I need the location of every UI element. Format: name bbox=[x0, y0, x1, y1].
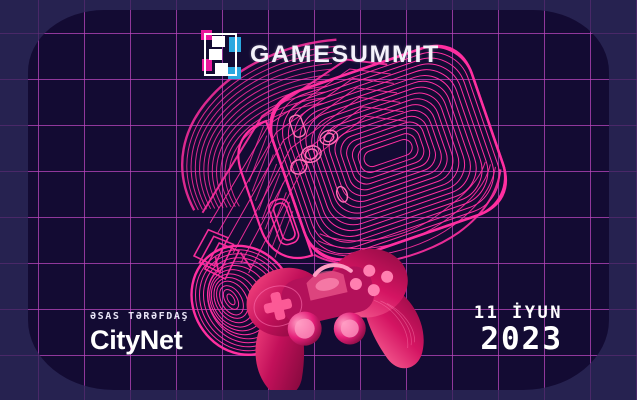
partner-block: ƏSAS TƏRƏFDAŞ CityNet bbox=[90, 311, 189, 354]
event-date: 11 İYUN 2023 bbox=[474, 304, 563, 356]
event-year: 2023 bbox=[474, 323, 563, 356]
gamesummit-pixel-s-logo-icon bbox=[204, 33, 237, 76]
partner-name: CityNet bbox=[90, 327, 189, 354]
brand-lockup: GAMESUMMIT bbox=[28, 33, 609, 76]
crt-screen: GAMESUMMIT ƏSAS TƏRƏFDAŞ CityNet 11 İYUN… bbox=[28, 10, 609, 390]
partner-kicker: ƏSAS TƏRƏFDAŞ bbox=[90, 311, 189, 322]
event-poster: GAMESUMMIT ƏSAS TƏRƏFDAŞ CityNet 11 İYUN… bbox=[0, 0, 637, 400]
brand-wordmark: GAMESUMMIT bbox=[250, 41, 440, 69]
